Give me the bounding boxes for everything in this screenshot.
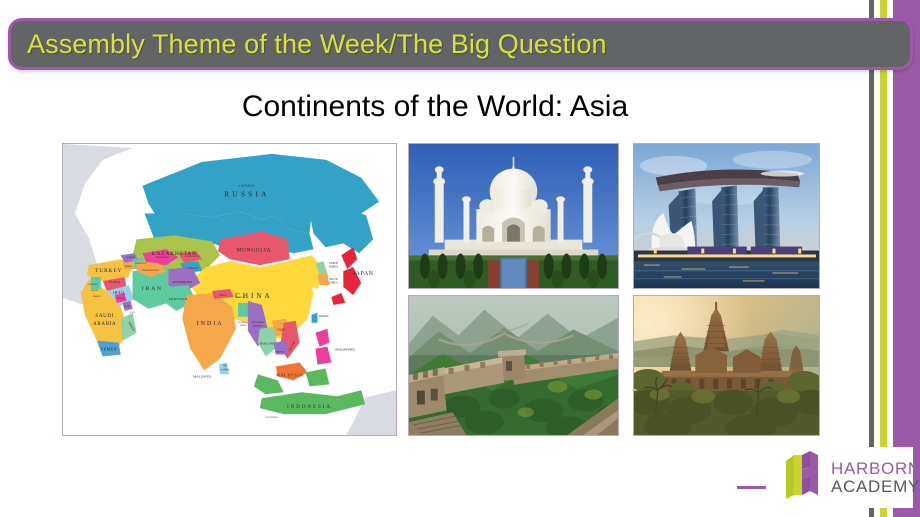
logo-word-academy: ACADEMY xyxy=(831,478,920,495)
svg-text:BANGLA-: BANGLA- xyxy=(238,321,248,324)
assembly-theme-banner: Assembly Theme of the Week/The Big Quest… xyxy=(8,18,913,70)
svg-text:U.A.E.: U.A.E. xyxy=(130,311,136,314)
svg-text:ISRAEL: ISRAEL xyxy=(91,289,99,292)
svg-text:NEPAL: NEPAL xyxy=(219,294,227,297)
marina-bay-sands-illustration xyxy=(634,144,819,288)
svg-text:THAILAND: THAILAND xyxy=(260,343,274,346)
svg-text:YEMEN: YEMEN xyxy=(100,347,117,352)
svg-text:JAPAN: JAPAN xyxy=(353,271,374,277)
logo-word-harborne: HARBORNE xyxy=(831,460,920,477)
angkor-wat-illustration xyxy=(634,296,819,435)
svg-text:TAIWAN: TAIWAN xyxy=(318,315,328,318)
harborne-academy-logo: HARBORNE ACADEMY xyxy=(766,447,913,508)
svg-text:MONGOLIA: MONGOLIA xyxy=(236,247,271,253)
great-wall-photo xyxy=(408,295,619,436)
page-title: Continents of the World: Asia xyxy=(0,90,870,124)
svg-text:IRAN: IRAN xyxy=(142,286,163,292)
svg-text:(ASIAN): (ASIAN) xyxy=(239,184,255,188)
svg-text:TAJIKISTAN: TAJIKISTAN xyxy=(186,267,198,270)
svg-text:EAST TIMOR: EAST TIMOR xyxy=(266,416,278,419)
svg-text:LEBANON: LEBANON xyxy=(88,283,98,286)
slide-canvas: Assembly Theme of the Week/The Big Quest… xyxy=(0,0,920,517)
svg-text:KOREA: KOREA xyxy=(329,266,338,269)
svg-text:RUSSIA: RUSSIA xyxy=(224,190,270,199)
decor-stripe-lime xyxy=(880,0,887,517)
svg-text:PAKISTAN: PAKISTAN xyxy=(169,297,188,301)
svg-text:AZERBAIJAN: AZERBAIJAN xyxy=(135,262,147,265)
svg-text:MALAYSIA: MALAYSIA xyxy=(276,372,303,377)
svg-text:UZBEKISTAN: UZBEKISTAN xyxy=(156,256,170,259)
svg-text:GEORGIA: GEORGIA xyxy=(126,256,135,259)
svg-text:DESH: DESH xyxy=(240,325,246,327)
svg-text:SYRIA: SYRIA xyxy=(109,280,121,284)
taj-mahal-illustration xyxy=(409,144,618,288)
svg-text:KOREA: KOREA xyxy=(329,282,338,285)
marina-bay-sands-photo xyxy=(633,143,820,289)
svg-text:AFGHANISTAN: AFGHANISTAN xyxy=(173,281,192,284)
great-wall-illustration xyxy=(409,296,618,435)
svg-text:ARABIA: ARABIA xyxy=(93,322,116,327)
svg-text:KUWAIT: KUWAIT xyxy=(117,297,126,300)
svg-text:INDIA: INDIA xyxy=(197,321,224,327)
asia-map-svg: (ASIAN) RUSSIA KAZAKHSTAN MONGOLIA CHINA… xyxy=(63,144,396,435)
svg-text:QATAR: QATAR xyxy=(123,305,130,308)
decor-stripe-purple xyxy=(893,0,920,517)
harborne-h-mark-svg xyxy=(780,451,822,499)
content-area: (ASIAN) RUSSIA KAZAKHSTAN MONGOLIA CHINA… xyxy=(0,140,870,440)
svg-text:INDONESIA: INDONESIA xyxy=(287,405,332,410)
svg-text:CAMBODIA: CAMBODIA xyxy=(273,351,285,354)
svg-text:TURKMENISTAN: TURKMENISTAN xyxy=(142,269,159,272)
svg-text:ARMENIA: ARMENIA xyxy=(124,265,133,268)
svg-text:(BURMA): (BURMA) xyxy=(253,325,264,328)
svg-text:IRAQ: IRAQ xyxy=(113,290,125,295)
svg-text:LAOS: LAOS xyxy=(277,328,285,332)
svg-text:MYANMAR: MYANMAR xyxy=(252,321,265,324)
svg-text:SAUDI: SAUDI xyxy=(95,314,114,319)
svg-text:BHUTAN: BHUTAN xyxy=(235,296,244,299)
svg-text:JORDAN: JORDAN xyxy=(93,295,101,298)
banner-title: Assembly Theme of the Week/The Big Quest… xyxy=(11,29,607,60)
svg-text:MALDIVES: MALDIVES xyxy=(193,374,211,378)
angkor-wat-photo xyxy=(633,295,820,436)
asia-map-image: (ASIAN) RUSSIA KAZAKHSTAN MONGOLIA CHINA… xyxy=(62,143,397,436)
taj-mahal-photo xyxy=(408,143,619,289)
svg-text:LANKA: LANKA xyxy=(221,368,230,371)
svg-text:SRI: SRI xyxy=(223,364,227,367)
svg-text:TURKEY: TURKEY xyxy=(95,268,122,274)
logo-wordmark: HARBORNE ACADEMY xyxy=(831,460,920,495)
svg-text:KYRGYZSTAN: KYRGYZSTAN xyxy=(185,255,200,258)
svg-text:PHILIPPINES: PHILIPPINES xyxy=(335,348,355,352)
harborne-h-icon xyxy=(780,451,822,504)
